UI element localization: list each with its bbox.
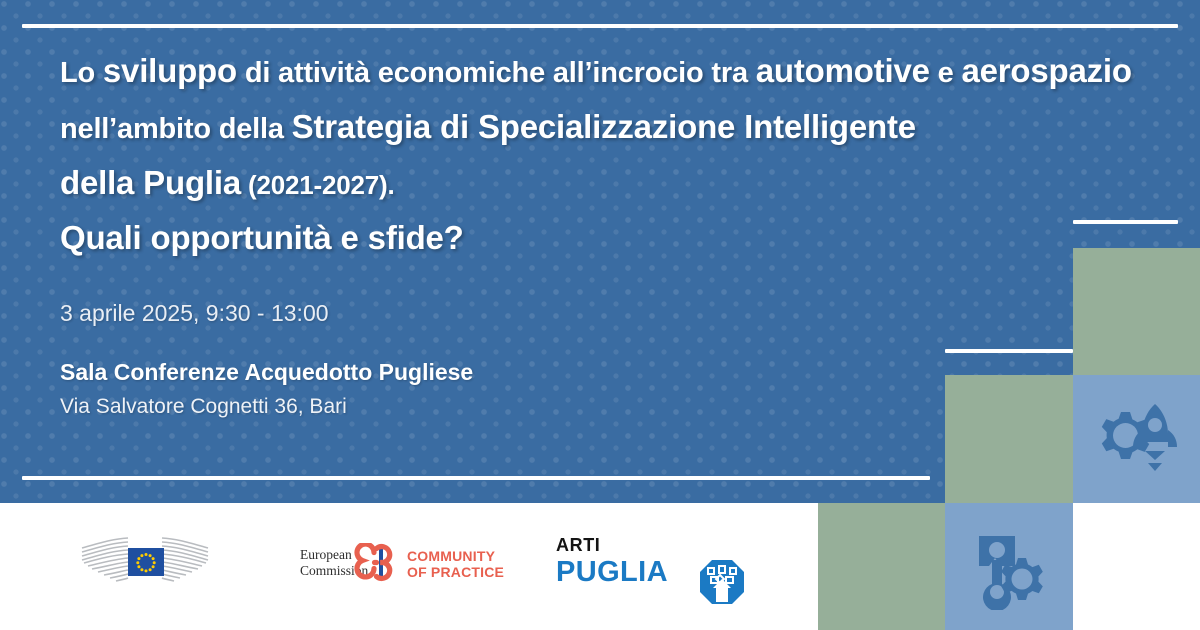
title-line-1: Lo sviluppo di attività economiche all’i… — [60, 44, 1140, 100]
title-prefix-nellambito: nell’ambito della — [60, 113, 292, 145]
s3-community-of-practice-logo: COMMUNITY OF PRACTICE — [352, 543, 504, 585]
title-word-automotive: automotive — [756, 52, 930, 89]
event-address: Via Salvatore Cognetti 36, Bari — [60, 395, 473, 419]
event-details: 3 aprile 2025, 9:30 - 13:00 Sala Confere… — [60, 300, 473, 419]
green-square-top-right — [1073, 248, 1200, 375]
title-strategia: Strategia di Specializzazione Intelligen… — [292, 108, 916, 145]
s3-wordmark: COMMUNITY OF PRACTICE — [407, 548, 504, 580]
event-venue: Sala Conferenze Acquedotto Pugliese — [60, 359, 473, 386]
s3-mark-icon — [352, 543, 398, 585]
arti-puglia-logo: ARTI PUGLIA — [556, 534, 668, 589]
title-line-2: nell’ambito della Strategia di Specializ… — [60, 100, 1140, 156]
divider-rule-mid-right — [945, 349, 1073, 353]
piston-gear-icon — [945, 503, 1073, 630]
title-word-e: e — [930, 57, 962, 89]
title-word-lo: Lo — [60, 57, 103, 89]
light-blue-square-wrench — [945, 503, 1073, 630]
white-square-bottom-right — [1073, 503, 1200, 630]
gear-rocket-icon — [1073, 375, 1200, 503]
title-line-4: Quali opportunità e sfide? — [60, 212, 1140, 264]
title-word-sviluppo: sviluppo — [103, 52, 237, 89]
green-square-bottom — [818, 503, 945, 630]
green-square-middle — [945, 375, 1073, 503]
european-commission-logo: European Commission — [78, 532, 383, 594]
title-della-puglia: della Puglia — [60, 164, 241, 201]
light-blue-square-rocket — [1073, 375, 1200, 503]
event-date: 3 aprile 2025, 9:30 - 13:00 — [60, 300, 473, 327]
event-title: Lo sviluppo di attività economiche all’i… — [60, 44, 1140, 264]
eu-flag-with-ribbon — [78, 532, 291, 594]
title-years: (2021-2027). — [241, 170, 395, 200]
event-banner: Lo sviluppo di attività economiche all’i… — [0, 0, 1200, 630]
title-word-aerospazio: aerospazio — [961, 52, 1131, 89]
arti-wordmark: ARTI — [556, 534, 668, 556]
divider-rule-top — [22, 24, 1178, 28]
title-line-3: della Puglia (2021-2027). — [60, 156, 1140, 212]
s3-line-2: OF PRACTICE — [407, 564, 504, 580]
regione-puglia-emblem-icon — [698, 558, 746, 606]
title-mid-1: di attività economiche all’incrocio tra — [237, 57, 756, 89]
divider-rule-bottom — [22, 476, 930, 480]
s3-line-1: COMMUNITY — [407, 548, 504, 564]
puglia-wordmark: PUGLIA — [556, 556, 668, 589]
